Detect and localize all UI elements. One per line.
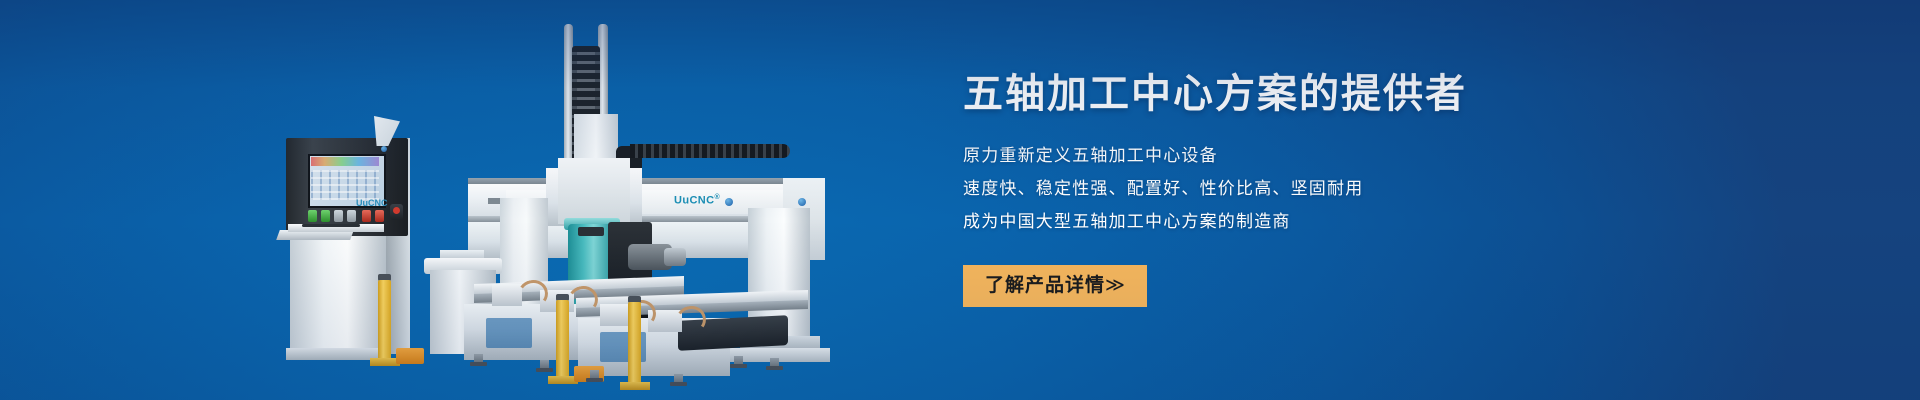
safety-bollard — [378, 280, 391, 360]
hero-subtitle-line-1: 原力重新定义五轴加工中心设备 — [963, 140, 1663, 173]
hero-subtitle-list: 原力重新定义五轴加工中心设备 速度快、稳定性强、配置好、性价比高、坚固耐用 成为… — [963, 140, 1663, 239]
hero-content: 五轴加工中心方案的提供者 原力重新定义五轴加工中心设备 速度快、稳定性强、配置好… — [963, 72, 1663, 307]
hmi-screen-grid — [311, 170, 379, 200]
spindle-head-badge — [578, 227, 604, 236]
carriage-housing — [558, 158, 630, 224]
machine-brand-beam: UuCNC® — [674, 194, 720, 207]
spindle-motor-cap — [664, 248, 686, 266]
hero-subtitle-line-2: 速度快、稳定性强、配置好、性价比高、坚固耐用 — [963, 173, 1663, 206]
machine-brand-beam-text: UuCNC — [674, 195, 715, 207]
machine-foot — [770, 358, 779, 370]
registered-mark-icon: ® — [715, 194, 721, 201]
work-bed-left-opening — [486, 318, 532, 348]
machine-foot — [734, 356, 743, 368]
hero-banner: UuCNC® — [0, 0, 1920, 400]
page-title: 五轴加工中心方案的提供者 — [963, 72, 1663, 116]
learn-more-button-label: 了解产品详情 — [985, 274, 1105, 296]
emergency-stop-box — [390, 204, 403, 220]
machine-foot — [674, 374, 683, 386]
cable-carrier-horizontal — [630, 144, 790, 158]
panel-button-start — [308, 210, 317, 222]
panel-button-grey — [334, 210, 343, 222]
hero-subtitle-line-3: 成为中国大型五轴加工中心方案的制造商 — [963, 206, 1663, 239]
gantry-leg-right-foot — [730, 348, 830, 362]
machine-foot — [474, 354, 483, 366]
safety-bollard — [628, 302, 641, 384]
indicator-dot-icon — [381, 146, 387, 152]
floor-junction-box — [396, 348, 424, 364]
panel-button-cycle — [321, 210, 330, 222]
safety-bollard-base — [620, 382, 650, 390]
control-panel-button-row — [308, 210, 386, 224]
learn-more-button[interactable]: 了解产品详情≫ — [963, 265, 1147, 307]
indicator-dot-icon — [798, 198, 806, 206]
machine-foot — [590, 370, 599, 382]
indicator-dot-icon — [725, 198, 733, 206]
tray-handle — [302, 224, 360, 227]
panel-button-grey — [347, 210, 356, 222]
machine-foot — [540, 360, 549, 372]
panel-button-stop — [362, 210, 371, 222]
product-image-cnc-machine: UuCNC® — [278, 18, 918, 388]
chevron-right-double-icon: ≫ — [1105, 274, 1125, 296]
hmi-screen-toolbar — [311, 157, 379, 166]
machine-brand-cabinet: UuCNC — [356, 198, 388, 208]
safety-bollard — [556, 300, 569, 378]
panel-button-estop — [375, 210, 384, 222]
